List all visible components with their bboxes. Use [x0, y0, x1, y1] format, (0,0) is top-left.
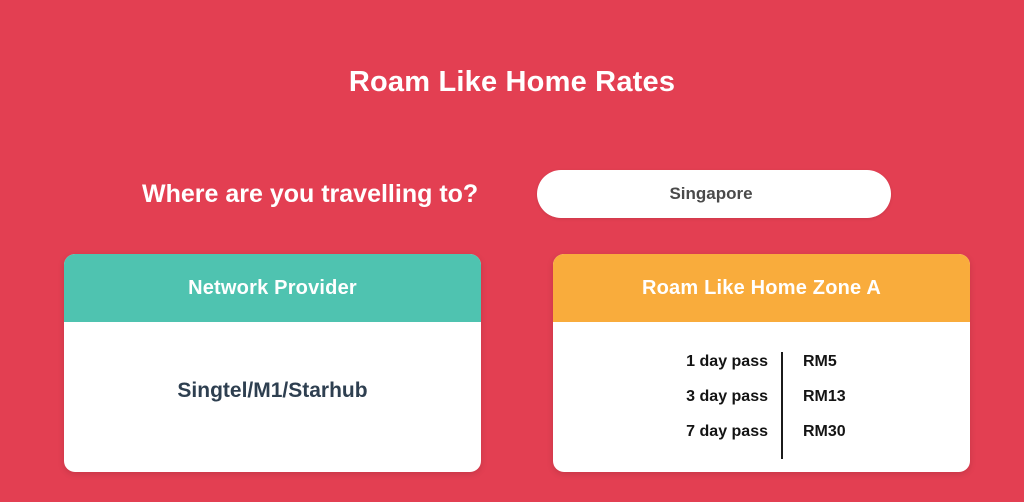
destination-select[interactable]: Singapore: [537, 170, 891, 218]
table-row: 3 day pass RM13: [553, 379, 970, 414]
rate-table: 1 day pass RM5 3 day pass RM13 7 day pas…: [553, 322, 970, 472]
rate-price: RM5: [803, 353, 837, 371]
roam-like-home-zone-card: Roam Like Home Zone A 1 day pass RM5 3 d…: [553, 254, 970, 472]
destination-label: Where are you travelling to?: [142, 176, 478, 212]
destination-selected-value: Singapore: [669, 184, 752, 204]
rate-term: 3 day pass: [553, 388, 768, 406]
network-provider-card-body: Singtel/M1/Starhub: [64, 322, 481, 472]
page-title: Roam Like Home Rates: [0, 62, 1024, 102]
table-row: 1 day pass RM5: [553, 344, 970, 379]
rate-price: RM30: [803, 423, 846, 441]
roam-like-home-zone-card-body: 1 day pass RM5 3 day pass RM13 7 day pas…: [553, 322, 970, 472]
rate-price: RM13: [803, 388, 846, 406]
table-row: 7 day pass RM30: [553, 414, 970, 449]
rate-term: 7 day pass: [553, 423, 768, 441]
destination-row: Where are you travelling to? Singapore: [64, 170, 970, 220]
roam-like-home-zone-card-header: Roam Like Home Zone A: [553, 254, 970, 322]
rate-term: 1 day pass: [553, 353, 768, 371]
roam-like-home-rates-page: Roam Like Home Rates Where are you trave…: [0, 0, 1024, 502]
network-provider-card: Network Provider Singtel/M1/Starhub: [64, 254, 481, 472]
network-provider-card-header: Network Provider: [64, 254, 481, 322]
network-provider-value: Singtel/M1/Starhub: [177, 379, 367, 403]
